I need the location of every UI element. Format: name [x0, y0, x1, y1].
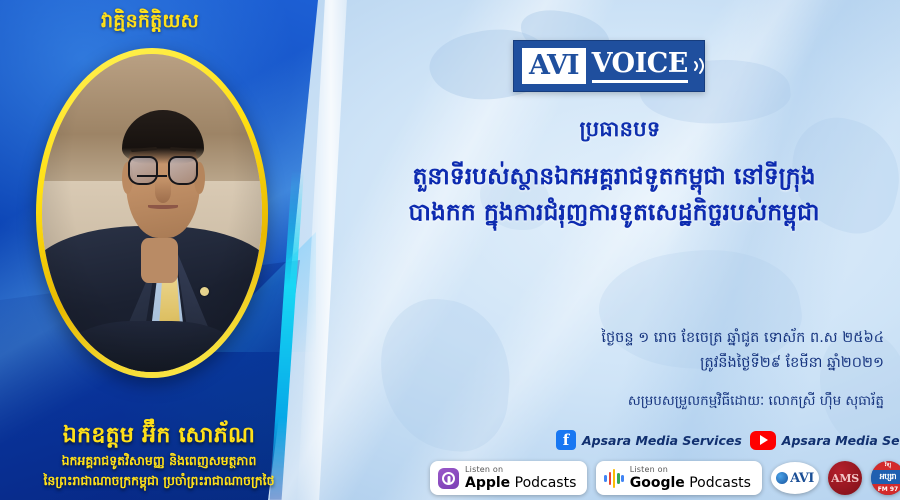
avi-badge-label: AVI	[790, 471, 814, 486]
apple-badge-suffix: Podcasts	[510, 475, 576, 491]
logo-voice-mark: VOICE	[592, 50, 688, 83]
google-podcasts-icon	[604, 468, 623, 488]
speaker-name: ឯកឧត្តម អ៊ឹក សោភ័ណ	[0, 422, 324, 450]
avi-globe-icon	[776, 472, 788, 484]
photo-vignette	[42, 54, 262, 372]
speaker-title-line1: ឯកអគ្គរាជទូតវិសាមញ្ញ និងពេញសមត្ថភាព	[0, 452, 324, 470]
platform-badges-row: Listen on Apple Podcasts Listen on Googl…	[430, 458, 900, 498]
speaker-portrait	[36, 48, 268, 378]
poster-canvas: វាគ្មិនកិត្តិយស	[0, 0, 900, 500]
fm-badge-mid: អប្សរា	[871, 470, 900, 484]
fm-badge-frequency: FM 97	[878, 486, 899, 493]
honorary-speaker-kicker: វាគ្មិនកិត្តិយស	[0, 10, 300, 33]
sound-wave-icon	[692, 55, 708, 77]
topic-title-line1: តួនាទីរបស់ស្ថានឯកអគ្គរាជទូតកម្ពុជា នៅទីក…	[336, 158, 892, 194]
avi-voice-logo: AVI VOICE	[513, 40, 705, 92]
ams-badge-label: AMS	[831, 472, 859, 485]
youtube-icon	[750, 431, 776, 450]
date-gregorian: ត្រូវនឹងថ្ងៃទី២៩ ខែមីនា ឆ្នាំ២០២១	[430, 351, 884, 376]
social-links-row: f Apsara Media Services Apsara Media Ser…	[556, 428, 892, 452]
facebook-page-label: Apsara Media Services	[582, 433, 742, 448]
apple-badge-listen-on: Listen on	[465, 466, 576, 474]
avi-institute-badge[interactable]: AVI	[771, 462, 819, 494]
google-badge-name: Google	[630, 475, 685, 491]
apple-podcasts-badge[interactable]: Listen on Apple Podcasts	[430, 461, 587, 495]
topic-title-line2: បាងកក ក្នុងការជំរុញការទូតសេដ្ឋកិច្ចរបស់ក…	[336, 194, 892, 230]
google-badge-suffix: Podcasts	[685, 475, 751, 491]
speaker-name-block: ឯកឧត្តម អ៊ឹក សោភ័ណ ឯកអគ្គរាជទូតវិសាមញ្ញ …	[0, 422, 324, 490]
youtube-channel-label: Apsara Media Services	[782, 433, 900, 448]
fm-badge-top: វិទ្យុ	[871, 461, 900, 470]
facebook-icon: f	[556, 430, 576, 450]
topic-title: តួនាទីរបស់ស្ថានឯកអគ្គរាជទូតកម្ពុជា នៅទីក…	[336, 158, 892, 231]
topic-label: ប្រធានបទ	[360, 116, 880, 147]
facebook-link[interactable]: f Apsara Media Services	[556, 430, 742, 450]
apple-podcasts-icon	[438, 468, 459, 489]
date-khmer: ថ្ងៃចន្ទ ១ រោច ខែចេត្រ ឆ្នាំជូត ទោស័ក ព.…	[430, 326, 884, 351]
logo-avi-mark: AVI	[522, 48, 586, 84]
moderator-credit: សម្របសម្រួលកម្មវិធីដោយៈ លោកស្រី ហ៊ឹម សុធ…	[430, 392, 892, 412]
portrait-photo	[42, 54, 262, 372]
google-badge-listen-on: Listen on	[630, 466, 751, 474]
fm-badge-top-label: វិទ្យុ	[885, 462, 891, 469]
youtube-link[interactable]: Apsara Media Services	[750, 431, 900, 450]
fm-badge-bottom: FM 97	[871, 484, 900, 495]
speaker-title-line2: នៃព្រះរាជាណាចក្រកម្ពុជា ប្រចាំព្រះរាជាណា…	[0, 472, 324, 490]
google-podcasts-badge[interactable]: Listen on Google Podcasts	[596, 461, 762, 495]
event-date-block: ថ្ងៃចន្ទ ១ រោច ខែចេត្រ ឆ្នាំជូត ទោស័ក ព.…	[430, 326, 892, 377]
apple-badge-name: Apple	[465, 475, 510, 491]
fm-badge-mid-label: អប្សរា	[880, 471, 897, 483]
ams-badge[interactable]: AMS	[828, 461, 862, 495]
apsara-fm-radio-badge[interactable]: វិទ្យុ អប្សរា FM 97	[871, 461, 900, 495]
